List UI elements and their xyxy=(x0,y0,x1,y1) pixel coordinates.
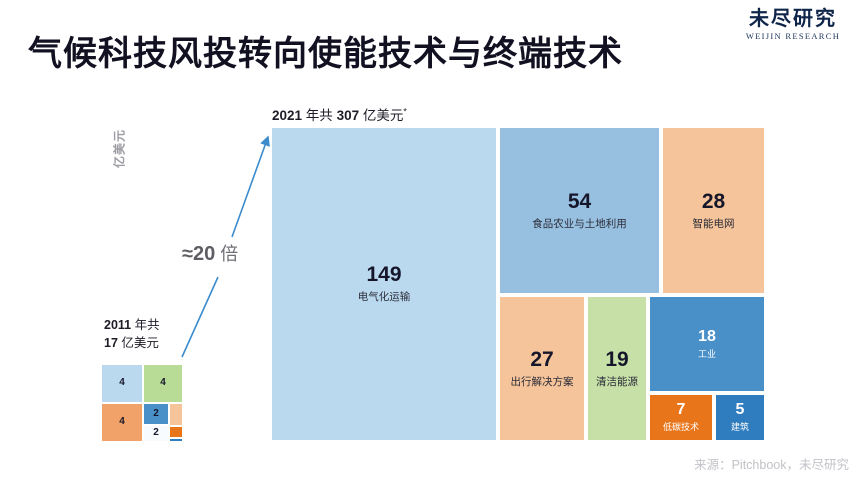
cell-value: 4 xyxy=(160,378,166,389)
treemap-2011-cell-c[interactable]: 4 xyxy=(101,403,143,442)
cell-label: 食品农业与土地利用 xyxy=(532,218,627,231)
treemap-cell-food-agri-land[interactable]: 54 食品农业与土地利用 xyxy=(498,126,661,295)
growth-factor-unit: 倍 xyxy=(215,244,238,264)
cell-value: 28 xyxy=(702,191,725,213)
treemap-cell-industry[interactable]: 18 工业 xyxy=(648,295,766,393)
cell-label: 智能电网 xyxy=(693,218,735,231)
cell-label: 低碳技术 xyxy=(663,422,699,433)
cell-label: 工业 xyxy=(698,349,716,360)
caption-2011-year: 2011 xyxy=(104,318,131,332)
cell-value: 19 xyxy=(605,349,628,371)
caption-2021: 2021 年共 307 亿美元* xyxy=(272,104,407,124)
treemap-2011-cell-g[interactable] xyxy=(169,426,183,438)
caption-2011-value: 17 xyxy=(104,336,118,350)
page-title: 气候科技风投转向使能技术与终端技术 xyxy=(28,26,623,75)
brand-logo: 未尽研究 WEIJIN RESEARCH xyxy=(731,8,855,41)
cell-value: 4 xyxy=(119,378,125,389)
brand-logo-cn: 未尽研究 xyxy=(731,8,855,29)
treemap-2011-cell-a[interactable]: 4 xyxy=(101,364,143,403)
slide-canvas: 气候科技风投转向使能技术与终端技术 未尽研究 WEIJIN RESEARCH 2… xyxy=(0,0,865,487)
cell-value: 5 xyxy=(736,402,745,419)
cell-value: 2 xyxy=(153,409,159,420)
treemap-cell-electrified-transport[interactable]: 149 电气化运输 xyxy=(270,126,498,442)
caption-2021-year: 2021 xyxy=(272,108,302,123)
source-note: 来源：Pitchbook，未尽研究 xyxy=(694,454,849,473)
treemap-cell-low-carbon-tech[interactable]: 7 低碳技术 xyxy=(648,393,714,442)
cell-value: 4 xyxy=(119,417,125,428)
treemap-2011-cell-h[interactable] xyxy=(169,438,183,442)
treemap-cell-smart-grid[interactable]: 28 智能电网 xyxy=(661,126,766,295)
treemap-2011-cell-e[interactable]: 2 xyxy=(143,425,169,442)
treemap-cell-clean-energy[interactable]: 19 清洁能源 xyxy=(586,295,648,442)
caption-2021-value: 307 xyxy=(337,108,360,123)
caption-2021-asterisk: * xyxy=(403,107,407,117)
brand-logo-en: WEIJIN RESEARCH xyxy=(731,31,855,41)
caption-2021-mid: 年共 xyxy=(302,108,337,123)
treemap-2011: 4 4 4 2 2 xyxy=(101,364,183,442)
treemap-2011-cell-b[interactable]: 4 xyxy=(143,364,183,403)
cell-value: 27 xyxy=(530,349,553,371)
cell-value: 7 xyxy=(677,402,686,419)
cell-label: 清洁能源 xyxy=(596,376,638,389)
treemap-2021: 149 电气化运输 54 食品农业与土地利用 28 智能电网 27 出行解决方案… xyxy=(270,126,766,442)
treemap-cell-mobility-solutions[interactable]: 27 出行解决方案 xyxy=(498,295,586,442)
cell-value: 18 xyxy=(698,329,716,346)
cell-label: 建筑 xyxy=(731,422,749,433)
cell-value: 149 xyxy=(366,264,401,286)
treemap-2011-cell-f[interactable] xyxy=(169,403,183,426)
cell-value: 2 xyxy=(153,428,159,439)
cell-value: 54 xyxy=(568,191,591,213)
cell-label: 出行解决方案 xyxy=(511,376,574,389)
growth-factor-value: ≈20 xyxy=(182,243,215,265)
caption-2021-unit: 亿美元 xyxy=(359,108,403,123)
cell-label: 电气化运输 xyxy=(358,291,411,304)
growth-factor-label: ≈20 倍 xyxy=(182,240,238,266)
treemap-2011-cell-d[interactable]: 2 xyxy=(143,403,169,425)
treemap-cell-buildings[interactable]: 5 建筑 xyxy=(714,393,766,442)
axis-watermark-label: 亿美元 xyxy=(111,114,128,184)
